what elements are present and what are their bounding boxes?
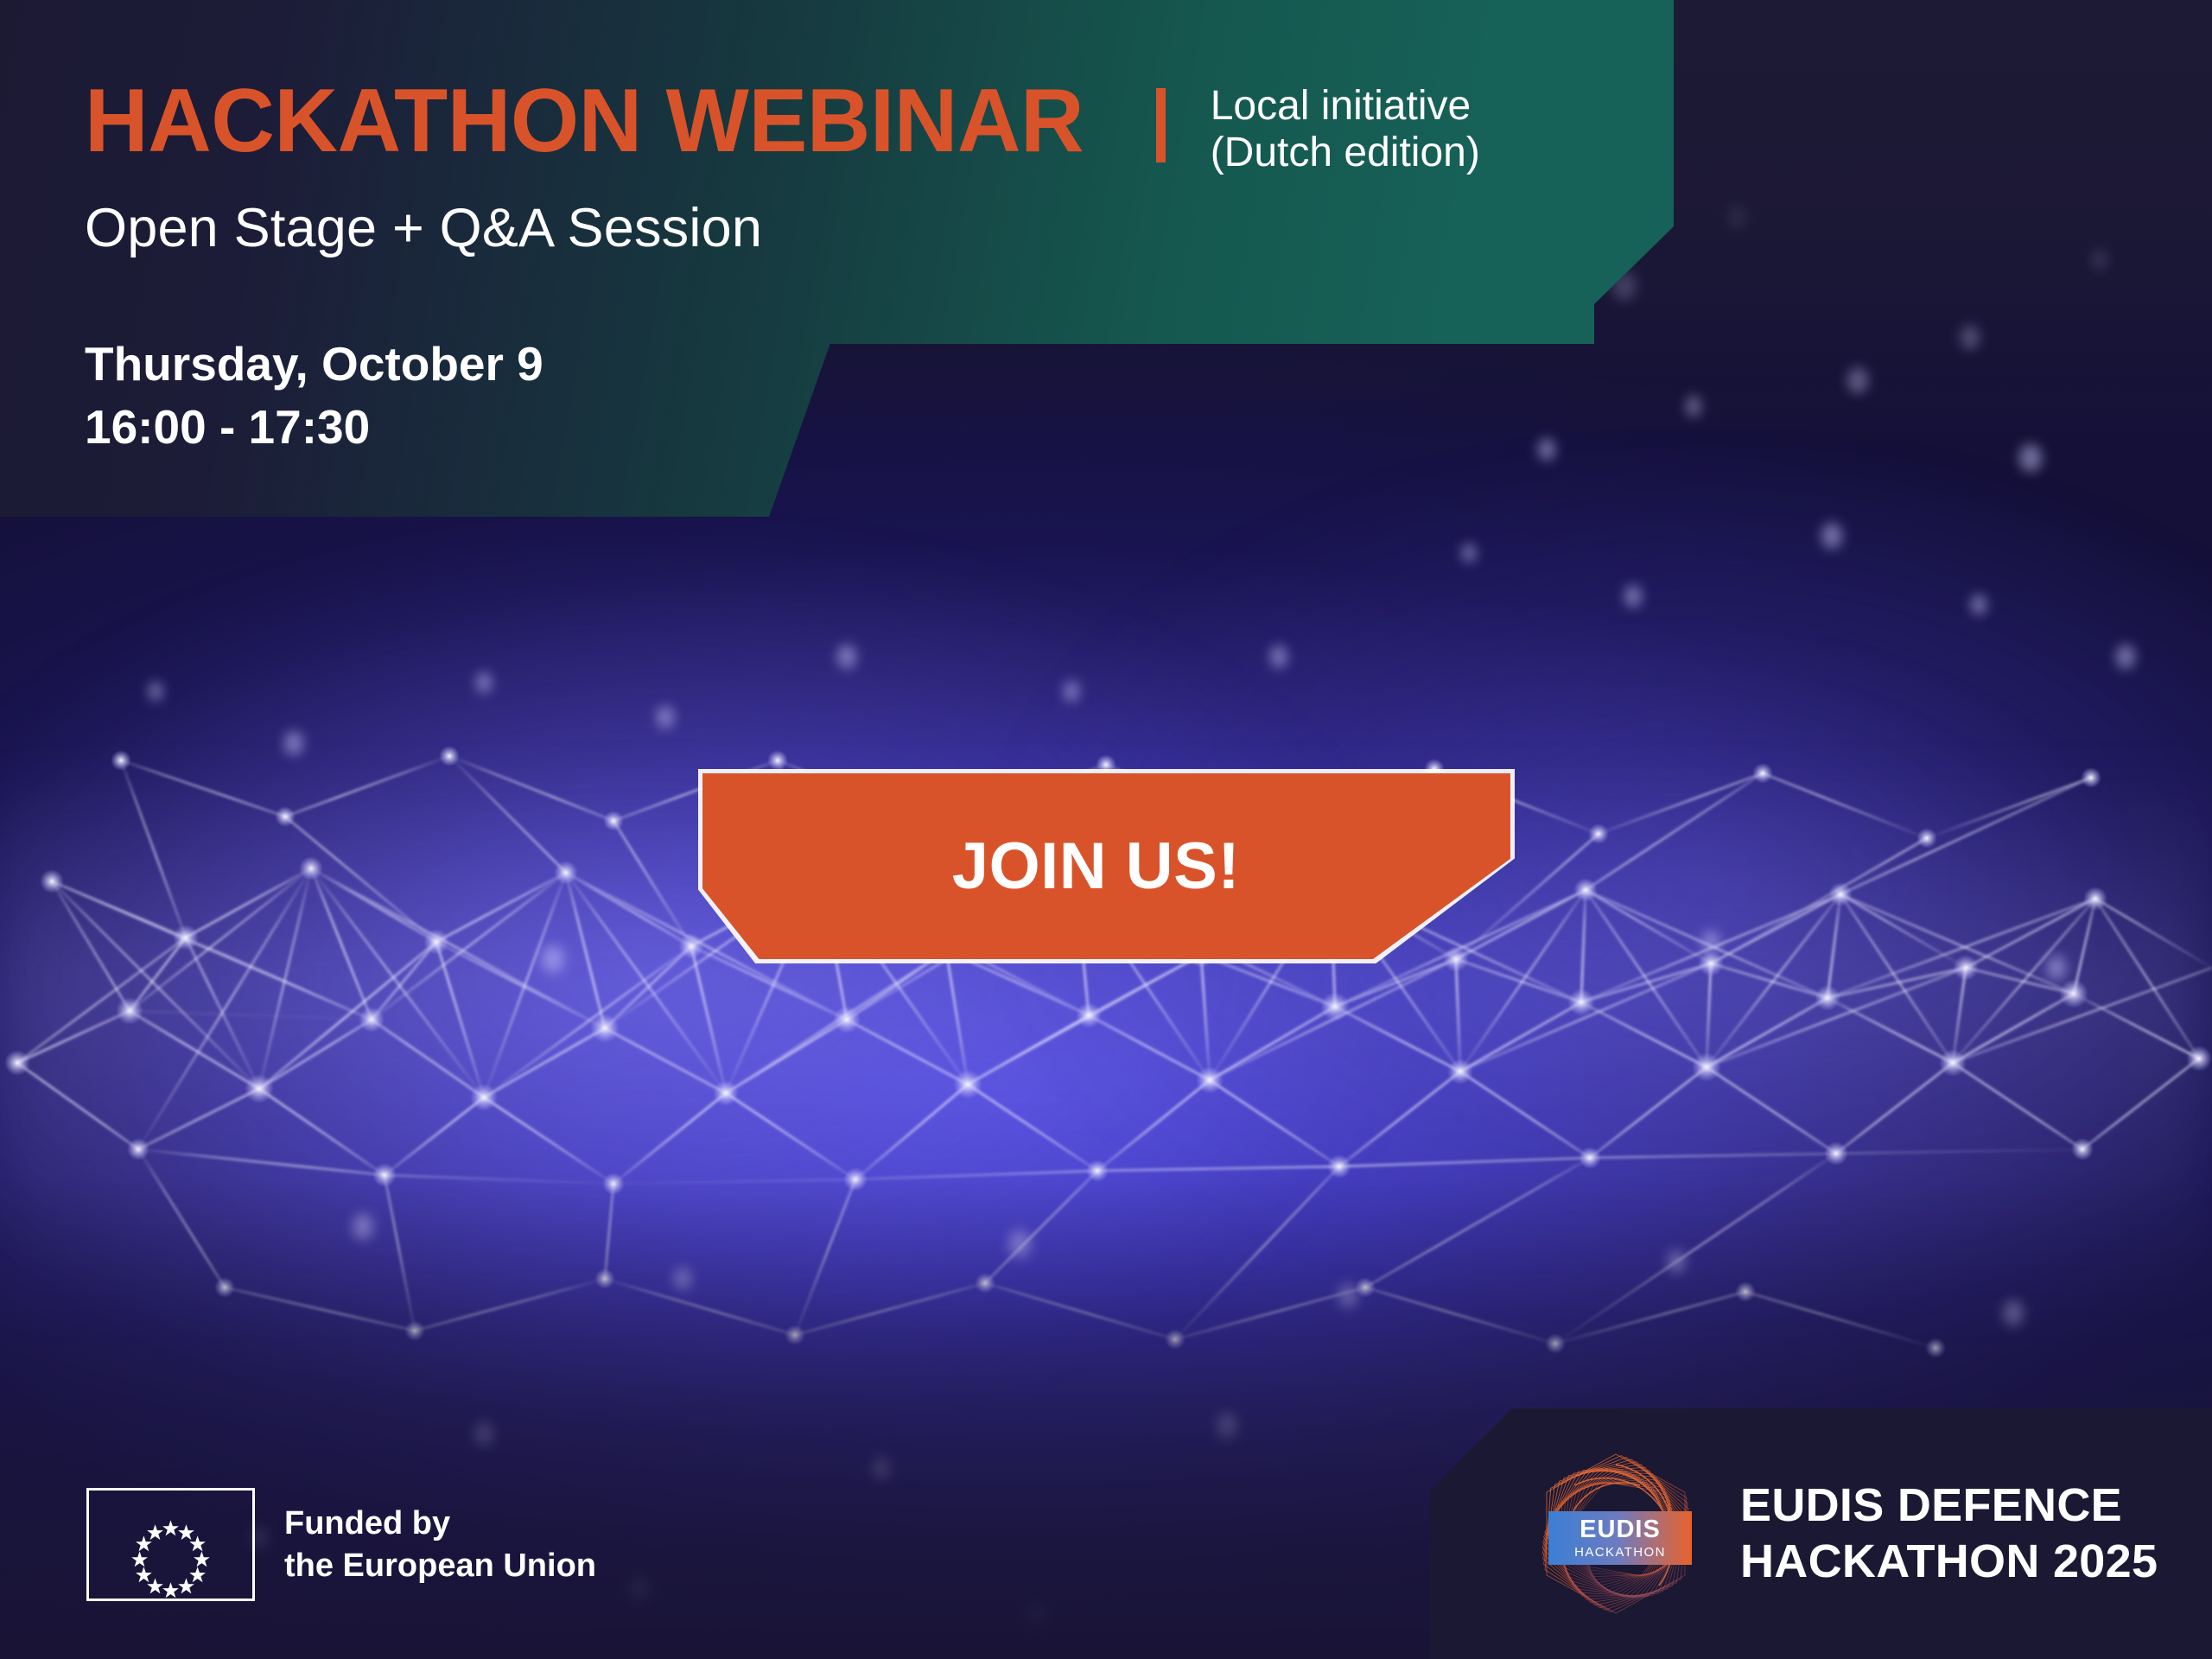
eudis-badge: EUDIS HACKATHON — [1548, 1511, 1692, 1565]
eudis-wordmark-line-1: EUDIS DEFENCE — [1740, 1478, 2158, 1534]
promotional-poster: HACKATHON WEBINAR Local initiative (Dutc… — [0, 0, 2212, 1659]
eudis-badge-subtitle: HACKATHON — [1574, 1546, 1666, 1559]
eu-funding-text: Funded by the European Union — [284, 1503, 596, 1586]
eudis-wordmark: EUDIS DEFENCE HACKATHON 2025 — [1740, 1478, 2158, 1590]
eu-funding-line-1: Funded by — [284, 1503, 596, 1545]
eudis-badge-title: EUDIS — [1580, 1517, 1661, 1542]
event-time: 16:00 - 17:30 — [85, 396, 543, 459]
join-us-button[interactable]: JOIN US! — [702, 773, 1510, 959]
vertical-bar-icon — [1156, 88, 1166, 162]
event-date: Thursday, October 9 — [85, 333, 543, 396]
title-row: HACKATHON WEBINAR Local initiative (Dutc… — [85, 76, 1480, 176]
eu-funding-lockup: Funded by the European Union — [86, 1488, 596, 1601]
eu-flag-icon — [86, 1488, 255, 1601]
tagline-line-2: (Dutch edition) — [1211, 130, 1480, 176]
page-title: HACKATHON WEBINAR — [85, 76, 1084, 166]
eudis-branding-panel: EUDIS HACKATHON EUDIS DEFENCE HACKATHON … — [1430, 1408, 2212, 1659]
eu-funding-line-2: the European Union — [284, 1545, 596, 1587]
title-tagline: Local initiative (Dutch edition) — [1211, 83, 1480, 176]
eudis-wordmark-line-2: HACKATHON 2025 — [1740, 1534, 2158, 1590]
join-us-button-label: JOIN US! — [952, 829, 1240, 904]
page-subtitle: Open Stage + Q&A Session — [85, 197, 762, 259]
event-datetime: Thursday, October 9 16:00 - 17:30 — [85, 333, 543, 458]
tagline-line-1: Local initiative — [1211, 83, 1480, 130]
eudis-hexagon-spiral-icon: EUDIS HACKATHON — [1529, 1447, 1702, 1620]
